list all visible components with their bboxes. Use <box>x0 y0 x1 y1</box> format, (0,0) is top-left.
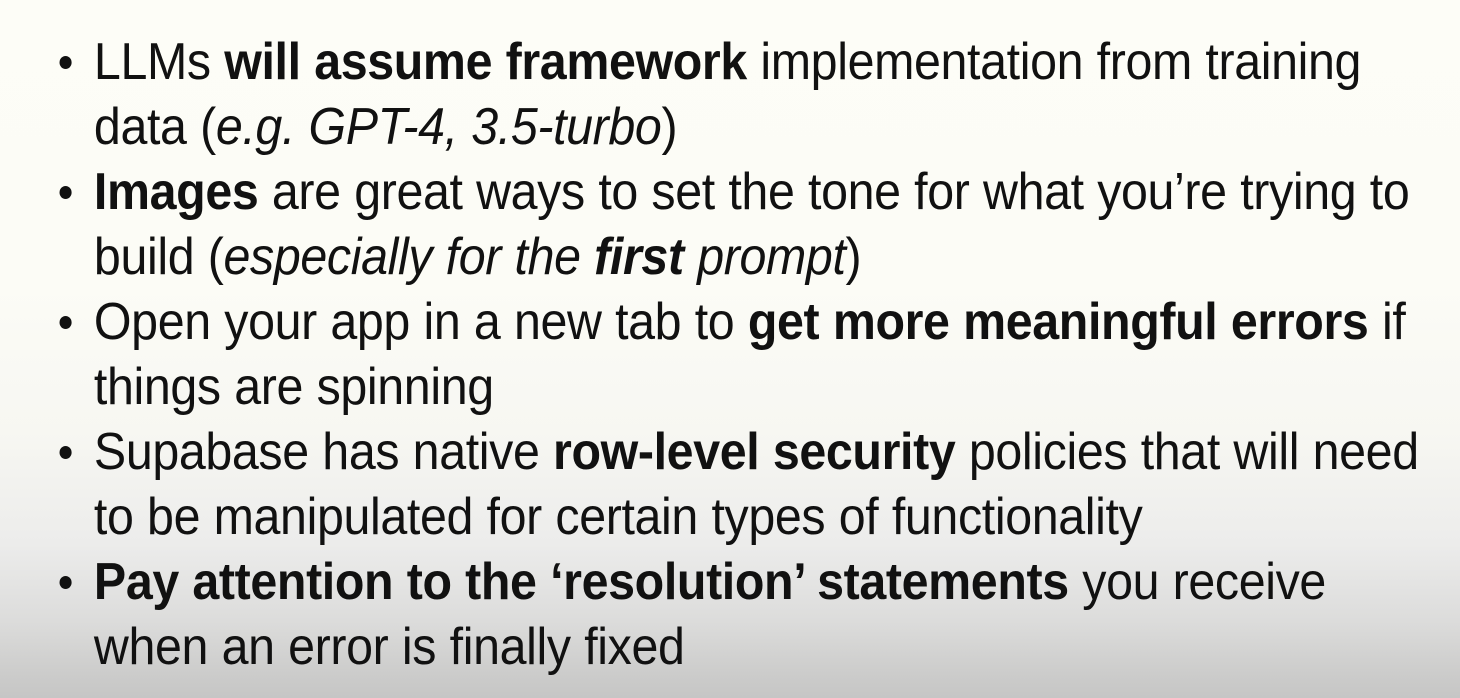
bullet-point-icon <box>60 186 72 199</box>
text-run-bold: Pay attention to the ‘resolution’ statem… <box>94 553 1069 611</box>
text-run-normal: LLMs <box>94 33 224 91</box>
text-run-bold: row-level security <box>553 423 955 481</box>
list-item: LLMs will assume framework implementatio… <box>0 30 1451 160</box>
list-item: Supabase has native row-level security p… <box>0 420 1451 550</box>
list-item-text: Pay attention to the ‘resolution’ statem… <box>94 550 1436 680</box>
text-run-bold-italic: first <box>594 228 684 286</box>
bullet-point-icon <box>60 576 72 589</box>
text-run-bold: get more meaningful errors <box>748 293 1369 351</box>
text-run-italic: e.g. GPT-4, 3.5-turbo <box>216 98 662 156</box>
list-item-text: Open your app in a new tab to get more m… <box>94 290 1436 420</box>
list-item: Pay attention to the ‘resolution’ statem… <box>0 550 1451 680</box>
text-run-bold: Images <box>94 163 258 221</box>
slide-canvas: LLMs will assume framework implementatio… <box>0 0 1460 698</box>
bullet-point-icon <box>60 56 72 69</box>
list-item-text: LLMs will assume framework implementatio… <box>94 30 1436 160</box>
text-run-italic: especially for the <box>224 228 595 286</box>
list-item-text: Images are great ways to set the tone fo… <box>94 160 1436 290</box>
text-run-normal: ) <box>661 98 677 156</box>
text-run-normal: ) <box>846 228 862 286</box>
text-run-bold: will assume framework <box>224 33 747 91</box>
list-item: Images are great ways to set the tone fo… <box>0 160 1451 290</box>
bullet-list: LLMs will assume framework implementatio… <box>0 30 1460 680</box>
text-run-normal: Open your app in a new tab to <box>94 293 748 351</box>
list-item-text: Supabase has native row-level security p… <box>94 420 1436 550</box>
list-item: Open your app in a new tab to get more m… <box>0 290 1451 420</box>
bullet-point-icon <box>60 446 72 459</box>
text-run-italic: prompt <box>684 228 846 286</box>
text-run-normal: Supabase has native <box>94 423 553 481</box>
bullet-point-icon <box>60 316 72 329</box>
